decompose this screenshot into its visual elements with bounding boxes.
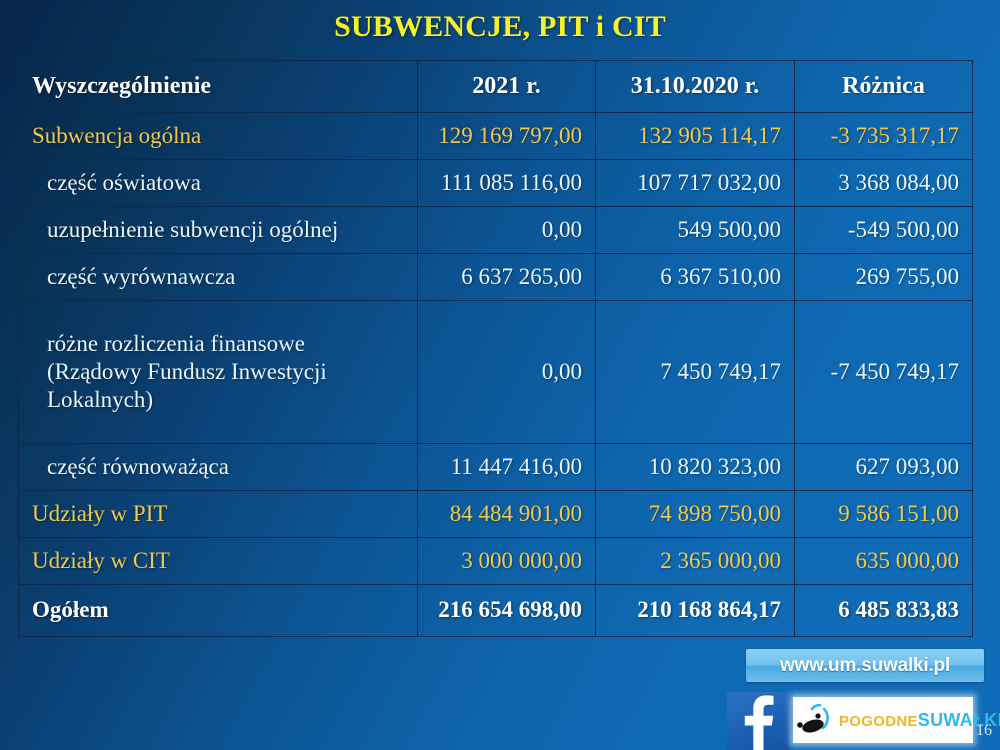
slide-canvas: SUBWENCJE, PIT i CIT Wyszczególnienie 20… xyxy=(0,0,1000,750)
table-row: część równoważąca11 447 416,0010 820 323… xyxy=(19,444,973,491)
row-value: 0,00 xyxy=(418,301,596,444)
table-header: Wyszczególnienie 2021 r. 31.10.2020 r. R… xyxy=(19,61,973,113)
table-row: różne rozliczenia finansowe (Rządowy Fun… xyxy=(19,301,973,444)
row-value: 0,00 xyxy=(418,207,596,254)
table-row: Udziały w CIT3 000 000,002 365 000,00635… xyxy=(19,538,973,585)
row-value: -549 500,00 xyxy=(795,207,973,254)
row-value: 6 367 510,00 xyxy=(596,254,795,301)
facebook-f-icon[interactable] xyxy=(727,692,789,750)
row-value: 627 093,00 xyxy=(795,444,973,491)
table-row: część oświatowa111 085 116,00107 717 032… xyxy=(19,160,973,207)
logo-word-pogodne: POGODNE xyxy=(839,713,918,730)
table-row: Ogółem216 654 698,00210 168 864,176 485 … xyxy=(19,585,973,637)
column-header-2021: 2021 r. xyxy=(418,61,596,113)
row-label: Udziały w PIT xyxy=(19,491,418,538)
row-label: Subwencja ogólna xyxy=(19,113,418,160)
row-value: 3 368 084,00 xyxy=(795,160,973,207)
row-value: 84 484 901,00 xyxy=(418,491,596,538)
row-value: 7 450 749,17 xyxy=(596,301,795,444)
row-value: 2 365 000,00 xyxy=(596,538,795,585)
cloud-swirl-icon xyxy=(793,699,839,741)
row-label: część oświatowa xyxy=(19,160,418,207)
table-row: Udziały w PIT84 484 901,0074 898 750,009… xyxy=(19,491,973,538)
table-row: uzupełnienie subwencji ogólnej0,00549 50… xyxy=(19,207,973,254)
row-value: 216 654 698,00 xyxy=(418,585,596,637)
row-value: 269 755,00 xyxy=(795,254,973,301)
row-value: 635 000,00 xyxy=(795,538,973,585)
row-label: część wyrównawcza xyxy=(19,254,418,301)
column-header-2020: 31.10.2020 r. xyxy=(596,61,795,113)
row-value: 11 447 416,00 xyxy=(418,444,596,491)
row-value: -7 450 749,17 xyxy=(795,301,973,444)
row-value: 9 586 151,00 xyxy=(795,491,973,538)
table-row: część wyrównawcza6 637 265,006 367 510,0… xyxy=(19,254,973,301)
table-row: Subwencja ogólna129 169 797,00132 905 11… xyxy=(19,113,973,160)
row-label: różne rozliczenia finansowe (Rządowy Fun… xyxy=(19,301,418,444)
row-value: 129 169 797,00 xyxy=(418,113,596,160)
row-label: uzupełnienie subwencji ogólnej xyxy=(19,207,418,254)
row-value: 210 168 864,17 xyxy=(596,585,795,637)
row-value: 132 905 114,17 xyxy=(596,113,795,160)
row-label: Ogółem xyxy=(19,585,418,637)
row-value: 10 820 323,00 xyxy=(596,444,795,491)
row-value: 6 485 833,83 xyxy=(795,585,973,637)
row-label: Udziały w CIT xyxy=(19,538,418,585)
row-value: -3 735 317,17 xyxy=(795,113,973,160)
table-body: Subwencja ogólna129 169 797,00132 905 11… xyxy=(19,113,973,637)
column-header-difference: Różnica xyxy=(795,61,973,113)
table-header-row: Wyszczególnienie 2021 r. 31.10.2020 r. R… xyxy=(19,61,973,113)
row-label: część równoważąca xyxy=(19,444,418,491)
column-header-description: Wyszczególnienie xyxy=(19,61,418,113)
row-value: 111 085 116,00 xyxy=(418,160,596,207)
slide-title: SUBWENCJE, PIT i CIT xyxy=(0,10,1000,44)
row-value: 3 000 000,00 xyxy=(418,538,596,585)
website-url-text: www.um.suwalki.pl xyxy=(780,655,950,677)
pogodne-suwalki-logo[interactable]: POGODNESUWAŁKI xyxy=(793,697,973,743)
website-url-badge[interactable]: www.um.suwalki.pl xyxy=(746,649,984,682)
row-value: 107 717 032,00 xyxy=(596,160,795,207)
row-value: 549 500,00 xyxy=(596,207,795,254)
row-value: 74 898 750,00 xyxy=(596,491,795,538)
row-value: 6 637 265,00 xyxy=(418,254,596,301)
page-number: 16 xyxy=(976,722,992,740)
budget-table: Wyszczególnienie 2021 r. 31.10.2020 r. R… xyxy=(18,60,973,637)
